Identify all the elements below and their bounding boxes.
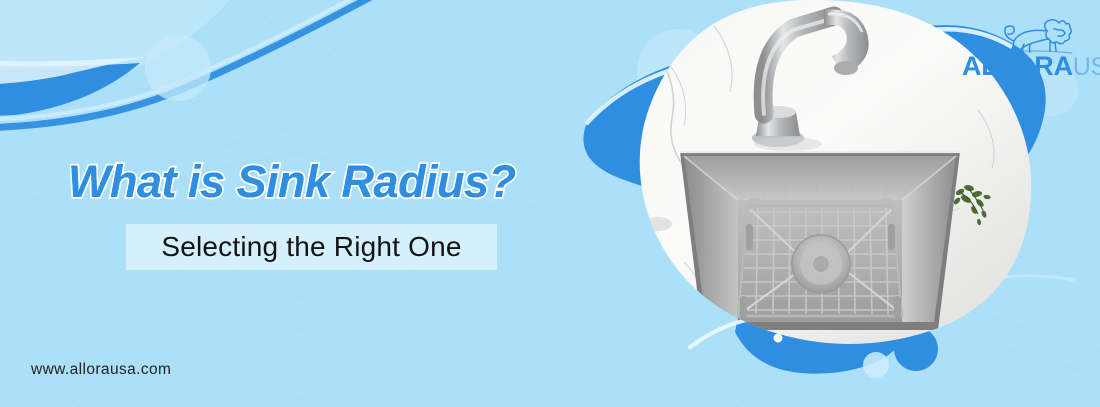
site-url[interactable]: www.allorausa.com — [31, 361, 171, 379]
page-headline: What is Sink Radius? — [68, 154, 516, 210]
banner-root: What is Sink Radius? What is Sink Radius… — [0, 0, 1100, 407]
bottom-right-circle — [894, 327, 938, 371]
brand-wordmark: ALLORAUSA — [962, 51, 1084, 82]
lion-logo-icon — [962, 14, 1084, 54]
soft-circle-accent — [145, 35, 211, 101]
top-left-dark-crescent — [0, 63, 140, 116]
soft-circle-accent — [637, 29, 719, 111]
page-subtitle: Selecting the Right One — [126, 224, 497, 270]
small-green-plant — [953, 184, 991, 225]
brand-name-secondary: USA — [1073, 53, 1100, 81]
bottom-leaf-shape — [735, 242, 911, 373]
soft-circle-accent — [902, 62, 958, 118]
soft-circle-accent — [863, 352, 889, 378]
brand-logo[interactable]: ALLORAUSA — [962, 14, 1084, 80]
top-left-light-blob — [0, 0, 260, 93]
brand-name-primary: ALLORA — [962, 51, 1073, 81]
left-sweeping-curve — [0, 0, 420, 128]
